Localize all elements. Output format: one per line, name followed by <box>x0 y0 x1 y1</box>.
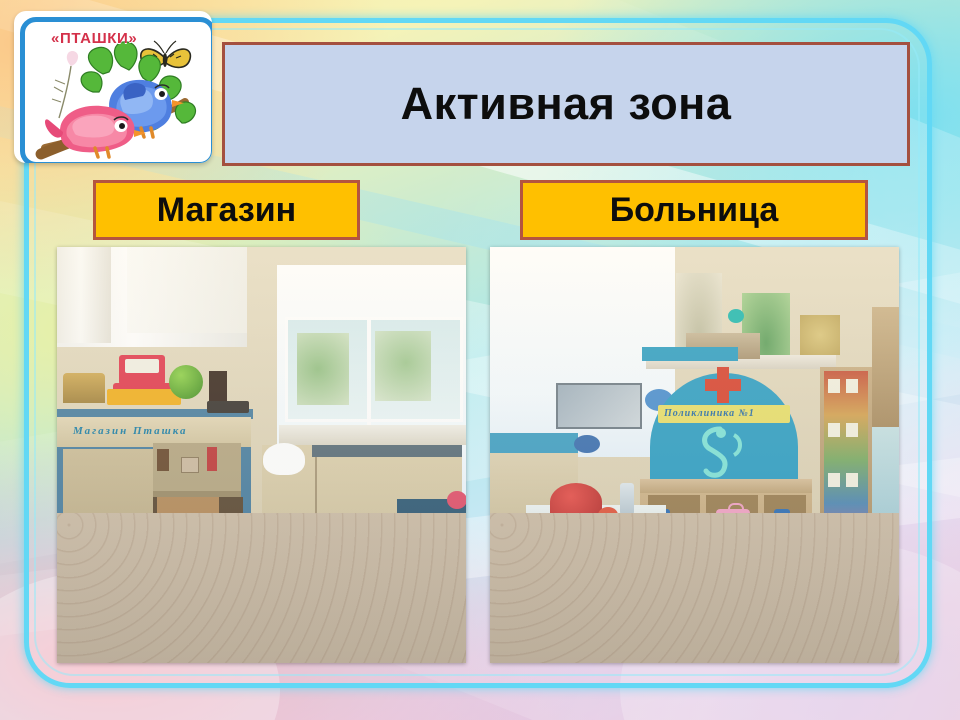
slide-canvas: «ПТАШКИ» Активная зона Магазин Больница <box>0 0 960 720</box>
logo-title-text: «ПТАШКИ» <box>51 30 137 47</box>
clinic-photo-tone <box>490 247 899 663</box>
section-label-hospital-text: Больница <box>610 191 779 230</box>
photo-play-clinic: Поликлиника №1 <box>490 247 899 663</box>
page-title: Активная зона <box>401 78 732 130</box>
section-label-shop-text: Магазин <box>157 191 296 230</box>
photo-play-shop: Магазин Пташка <box>57 247 466 663</box>
kindergarten-logo-card: «ПТАШКИ» <box>14 11 212 163</box>
logo-inner-frame: «ПТАШКИ» <box>20 17 212 163</box>
slide-title-box: Активная зона <box>222 42 910 166</box>
shop-photo-tone <box>57 247 466 663</box>
section-label-hospital: Больница <box>520 180 868 240</box>
section-label-shop: Магазин <box>93 180 360 240</box>
